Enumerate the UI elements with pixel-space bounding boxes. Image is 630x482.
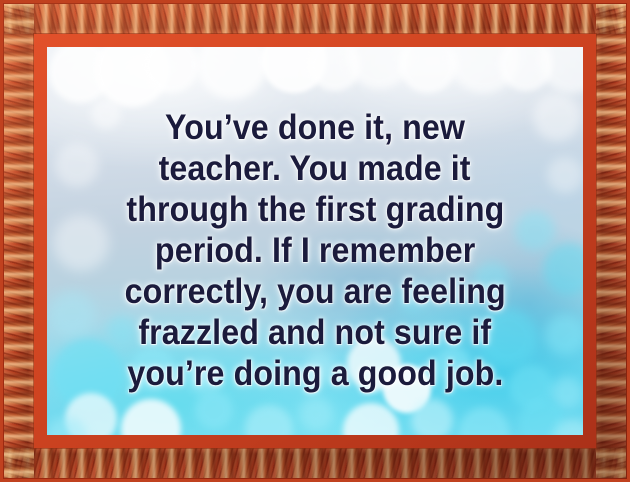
quote-line: through the first grading (126, 189, 504, 230)
quote-text-block: You’ve done it, newteacher. You made itt… (47, 47, 583, 435)
quote-line: You’ve done it, new (165, 107, 465, 148)
quote-line: correctly, you are feeling (124, 271, 505, 312)
quote-line: frazzled and not sure if (139, 312, 492, 353)
quote-line: you’re doing a good job. (127, 353, 503, 394)
quote-line: teacher. You made it (159, 148, 471, 189)
quote-line: period. If I remember (155, 230, 475, 271)
framed-quote-image: You’ve done it, newteacher. You made itt… (0, 0, 630, 482)
